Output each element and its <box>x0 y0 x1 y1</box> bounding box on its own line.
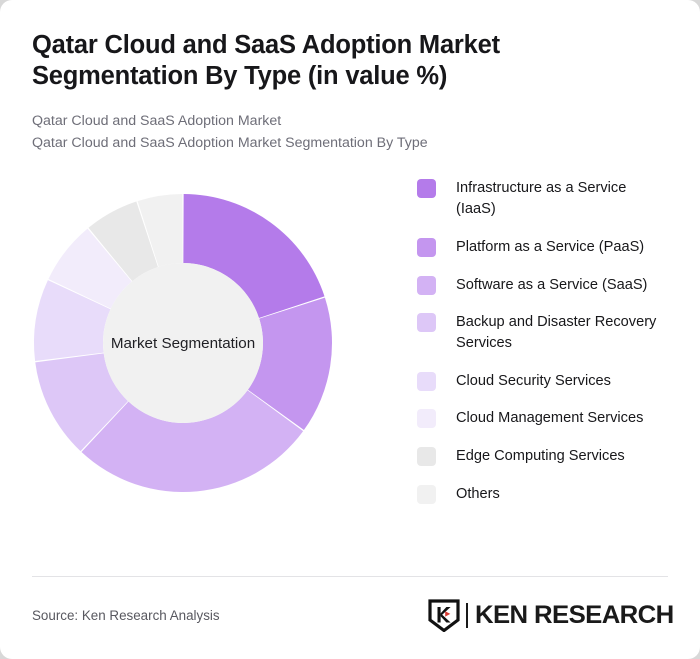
legend-swatch-icon <box>417 447 436 466</box>
card-inner: Qatar Cloud and SaaS Adoption Market Seg… <box>0 0 700 659</box>
page-title: Qatar Cloud and SaaS Adoption Market Seg… <box>32 30 668 92</box>
subtitle-group: Qatar Cloud and SaaS Adoption Market Qat… <box>32 111 668 154</box>
subtitle-segmentation: Qatar Cloud and SaaS Adoption Market Seg… <box>32 133 668 155</box>
ken-research-logo-mark-icon <box>428 599 460 632</box>
legend-item-label: Platform as a Service (PaaS) <box>456 237 644 258</box>
donut-hole <box>103 263 263 423</box>
legend-item[interactable]: Platform as a Service (PaaS) <box>417 237 697 258</box>
footer: Source: Ken Research Analysis KEN RESEAR… <box>32 595 668 635</box>
subtitle-market: Qatar Cloud and SaaS Adoption Market <box>32 111 668 133</box>
legend-item-label: Backup and Disaster Recovery Services <box>456 312 661 353</box>
legend-item-label: Infrastructure as a Service (IaaS) <box>456 178 661 219</box>
chart-area: Market Segmentation Infrastructure as a … <box>32 178 668 518</box>
legend-item-label: Software as a Service (SaaS) <box>456 275 647 296</box>
legend-swatch-icon <box>417 409 436 428</box>
legend-item-label: Others <box>456 484 500 505</box>
legend-item-label: Cloud Security Services <box>456 371 611 392</box>
legend-swatch-icon <box>417 372 436 391</box>
logo-divider <box>466 603 468 628</box>
legend-swatch-icon <box>417 179 436 198</box>
ken-research-logo: KEN RESEARCH <box>428 599 668 632</box>
legend-item-label: Cloud Management Services <box>456 408 643 429</box>
footer-divider <box>32 576 668 577</box>
source-note: Source: Ken Research Analysis <box>32 608 220 623</box>
donut-chart: Market Segmentation <box>33 193 333 493</box>
legend-item[interactable]: Others <box>417 484 697 505</box>
legend-item[interactable]: Cloud Security Services <box>417 371 697 392</box>
legend-item-label: Edge Computing Services <box>456 446 625 467</box>
legend-item[interactable]: Cloud Management Services <box>417 408 697 429</box>
legend-item[interactable]: Software as a Service (SaaS) <box>417 275 697 296</box>
legend-swatch-icon <box>417 313 436 332</box>
chart-legend: Infrastructure as a Service (IaaS)Platfo… <box>417 178 697 504</box>
legend-item[interactable]: Edge Computing Services <box>417 446 697 467</box>
chart-card: Qatar Cloud and SaaS Adoption Market Seg… <box>0 0 700 659</box>
legend-item[interactable]: Infrastructure as a Service (IaaS) <box>417 178 697 219</box>
legend-swatch-icon <box>417 238 436 257</box>
legend-item[interactable]: Backup and Disaster Recovery Services <box>417 312 697 353</box>
donut-svg <box>33 193 333 493</box>
legend-swatch-icon <box>417 485 436 504</box>
legend-swatch-icon <box>417 276 436 295</box>
logo-wordmark: KEN RESEARCH <box>475 601 674 630</box>
